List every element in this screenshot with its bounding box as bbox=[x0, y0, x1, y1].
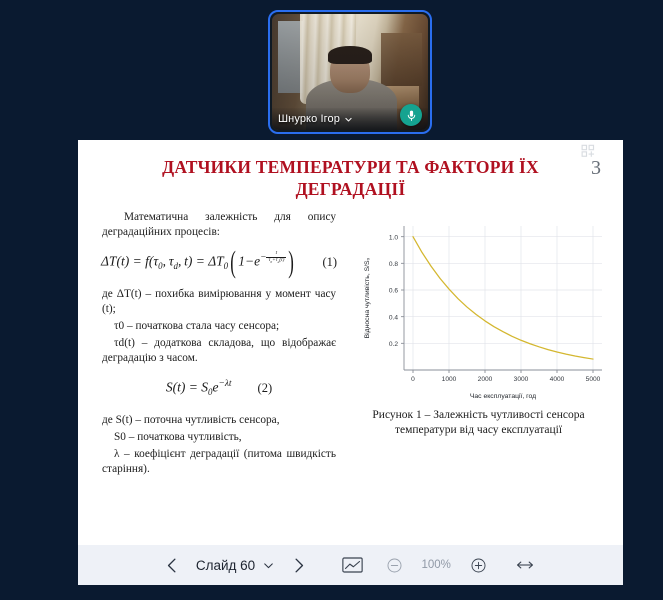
grid-plus-icon bbox=[579, 144, 613, 158]
chart-line-icon[interactable] bbox=[329, 550, 375, 580]
definition-1-0: де ΔT(t) – похибка вимірювання у момент … bbox=[102, 287, 336, 317]
definition-2-2: λ – коефіцієнт деградації (питома швидкі… bbox=[102, 447, 336, 477]
equation-1-number: (1) bbox=[322, 255, 337, 270]
slide-selector[interactable]: Слайд 60 bbox=[190, 550, 281, 580]
svg-text:0: 0 bbox=[411, 376, 415, 383]
zoom-level-value: 100% bbox=[413, 550, 459, 580]
participant-name: Шнурко Ігор bbox=[278, 113, 340, 125]
slide-number-badge: 3 bbox=[579, 144, 613, 186]
intro-paragraph: Математична залежність для опису деграда… bbox=[102, 210, 336, 240]
svg-text:Відносна чутливість, S/S₀: Відносна чутливість, S/S₀ bbox=[363, 257, 371, 338]
equation-1-expression: ΔT(t) = f(τ0, τd, t) = ΔT0(1−e−tτ0+τd(t)… bbox=[101, 251, 296, 274]
svg-text:4000: 4000 bbox=[550, 376, 565, 383]
video-participant-tile[interactable]: Шнурко Ігор bbox=[268, 10, 432, 134]
svg-text:0.6: 0.6 bbox=[389, 288, 398, 295]
svg-text:0.8: 0.8 bbox=[389, 261, 398, 268]
chevron-down-icon[interactable] bbox=[344, 115, 353, 124]
equation-2-expression: S(t) = S0e−λt bbox=[166, 377, 232, 400]
chevron-right-icon[interactable] bbox=[281, 550, 315, 580]
slide-canvas[interactable]: 3 ДАТЧИКИ ТЕМПЕРАТУРИ ТА ФАКТОРИ ЇХ ДЕГР… bbox=[78, 140, 623, 545]
svg-text:1.0: 1.0 bbox=[389, 234, 398, 241]
definition-1-1: τ0 – початкова стала часу сенсора; bbox=[102, 319, 336, 334]
chevron-down-icon[interactable] bbox=[262, 559, 275, 572]
minus-circle-icon[interactable] bbox=[375, 550, 413, 580]
equation-1: ΔT(t) = f(τ0, τd, t) = ΔT0(1−e−tτ0+τd(t)… bbox=[102, 251, 336, 274]
equation-2-number: (2) bbox=[258, 381, 273, 396]
figure-caption: Рисунок 1 – Залежність чутливості сенсор… bbox=[344, 408, 613, 438]
svg-text:0.2: 0.2 bbox=[389, 341, 398, 348]
svg-text:2000: 2000 bbox=[478, 376, 493, 383]
slide-figure-column: 0.20.40.60.81.0010002000300040005000Час … bbox=[344, 210, 623, 545]
equation-2: S(t) = S0e−λt (2) bbox=[102, 377, 336, 400]
microphone-icon[interactable] bbox=[400, 104, 422, 126]
svg-text:5000: 5000 bbox=[586, 376, 601, 383]
chevron-left-icon[interactable] bbox=[156, 550, 190, 580]
svg-text:1000: 1000 bbox=[442, 376, 457, 383]
definition-1-2: τd(t) – додаткова складова, що відобража… bbox=[102, 336, 336, 366]
chart-svg: 0.20.40.60.81.0010002000300040005000Час … bbox=[358, 216, 610, 404]
slide-title: ДАТЧИКИ ТЕМПЕРАТУРИ ТА ФАКТОРИ ЇХ ДЕГРАД… bbox=[78, 140, 623, 200]
slide-text-column: Математична залежність для опису деграда… bbox=[78, 210, 344, 545]
svg-text:3000: 3000 bbox=[514, 376, 529, 383]
slide-body: Математична залежність для опису деграда… bbox=[78, 210, 623, 545]
svg-text:Час експлуатації, год: Час експлуатації, год bbox=[470, 392, 536, 400]
fit-width-icon[interactable] bbox=[505, 550, 545, 580]
sensitivity-decay-chart: 0.20.40.60.81.0010002000300040005000Час … bbox=[358, 216, 610, 404]
definition-2-1: S0 – початкова чутливість, bbox=[102, 430, 336, 445]
video-stream: Шнурко Ігор bbox=[272, 14, 428, 130]
presentation-toolbar: Слайд 60 100% bbox=[78, 545, 623, 585]
slide-page-number: 3 bbox=[579, 158, 613, 178]
slide-selector-label: Слайд 60 bbox=[196, 558, 255, 573]
definition-2-0: де S(t) – поточна чутливість сенсора, bbox=[102, 413, 336, 428]
plus-circle-icon[interactable] bbox=[459, 550, 497, 580]
svg-text:0.4: 0.4 bbox=[389, 314, 398, 321]
